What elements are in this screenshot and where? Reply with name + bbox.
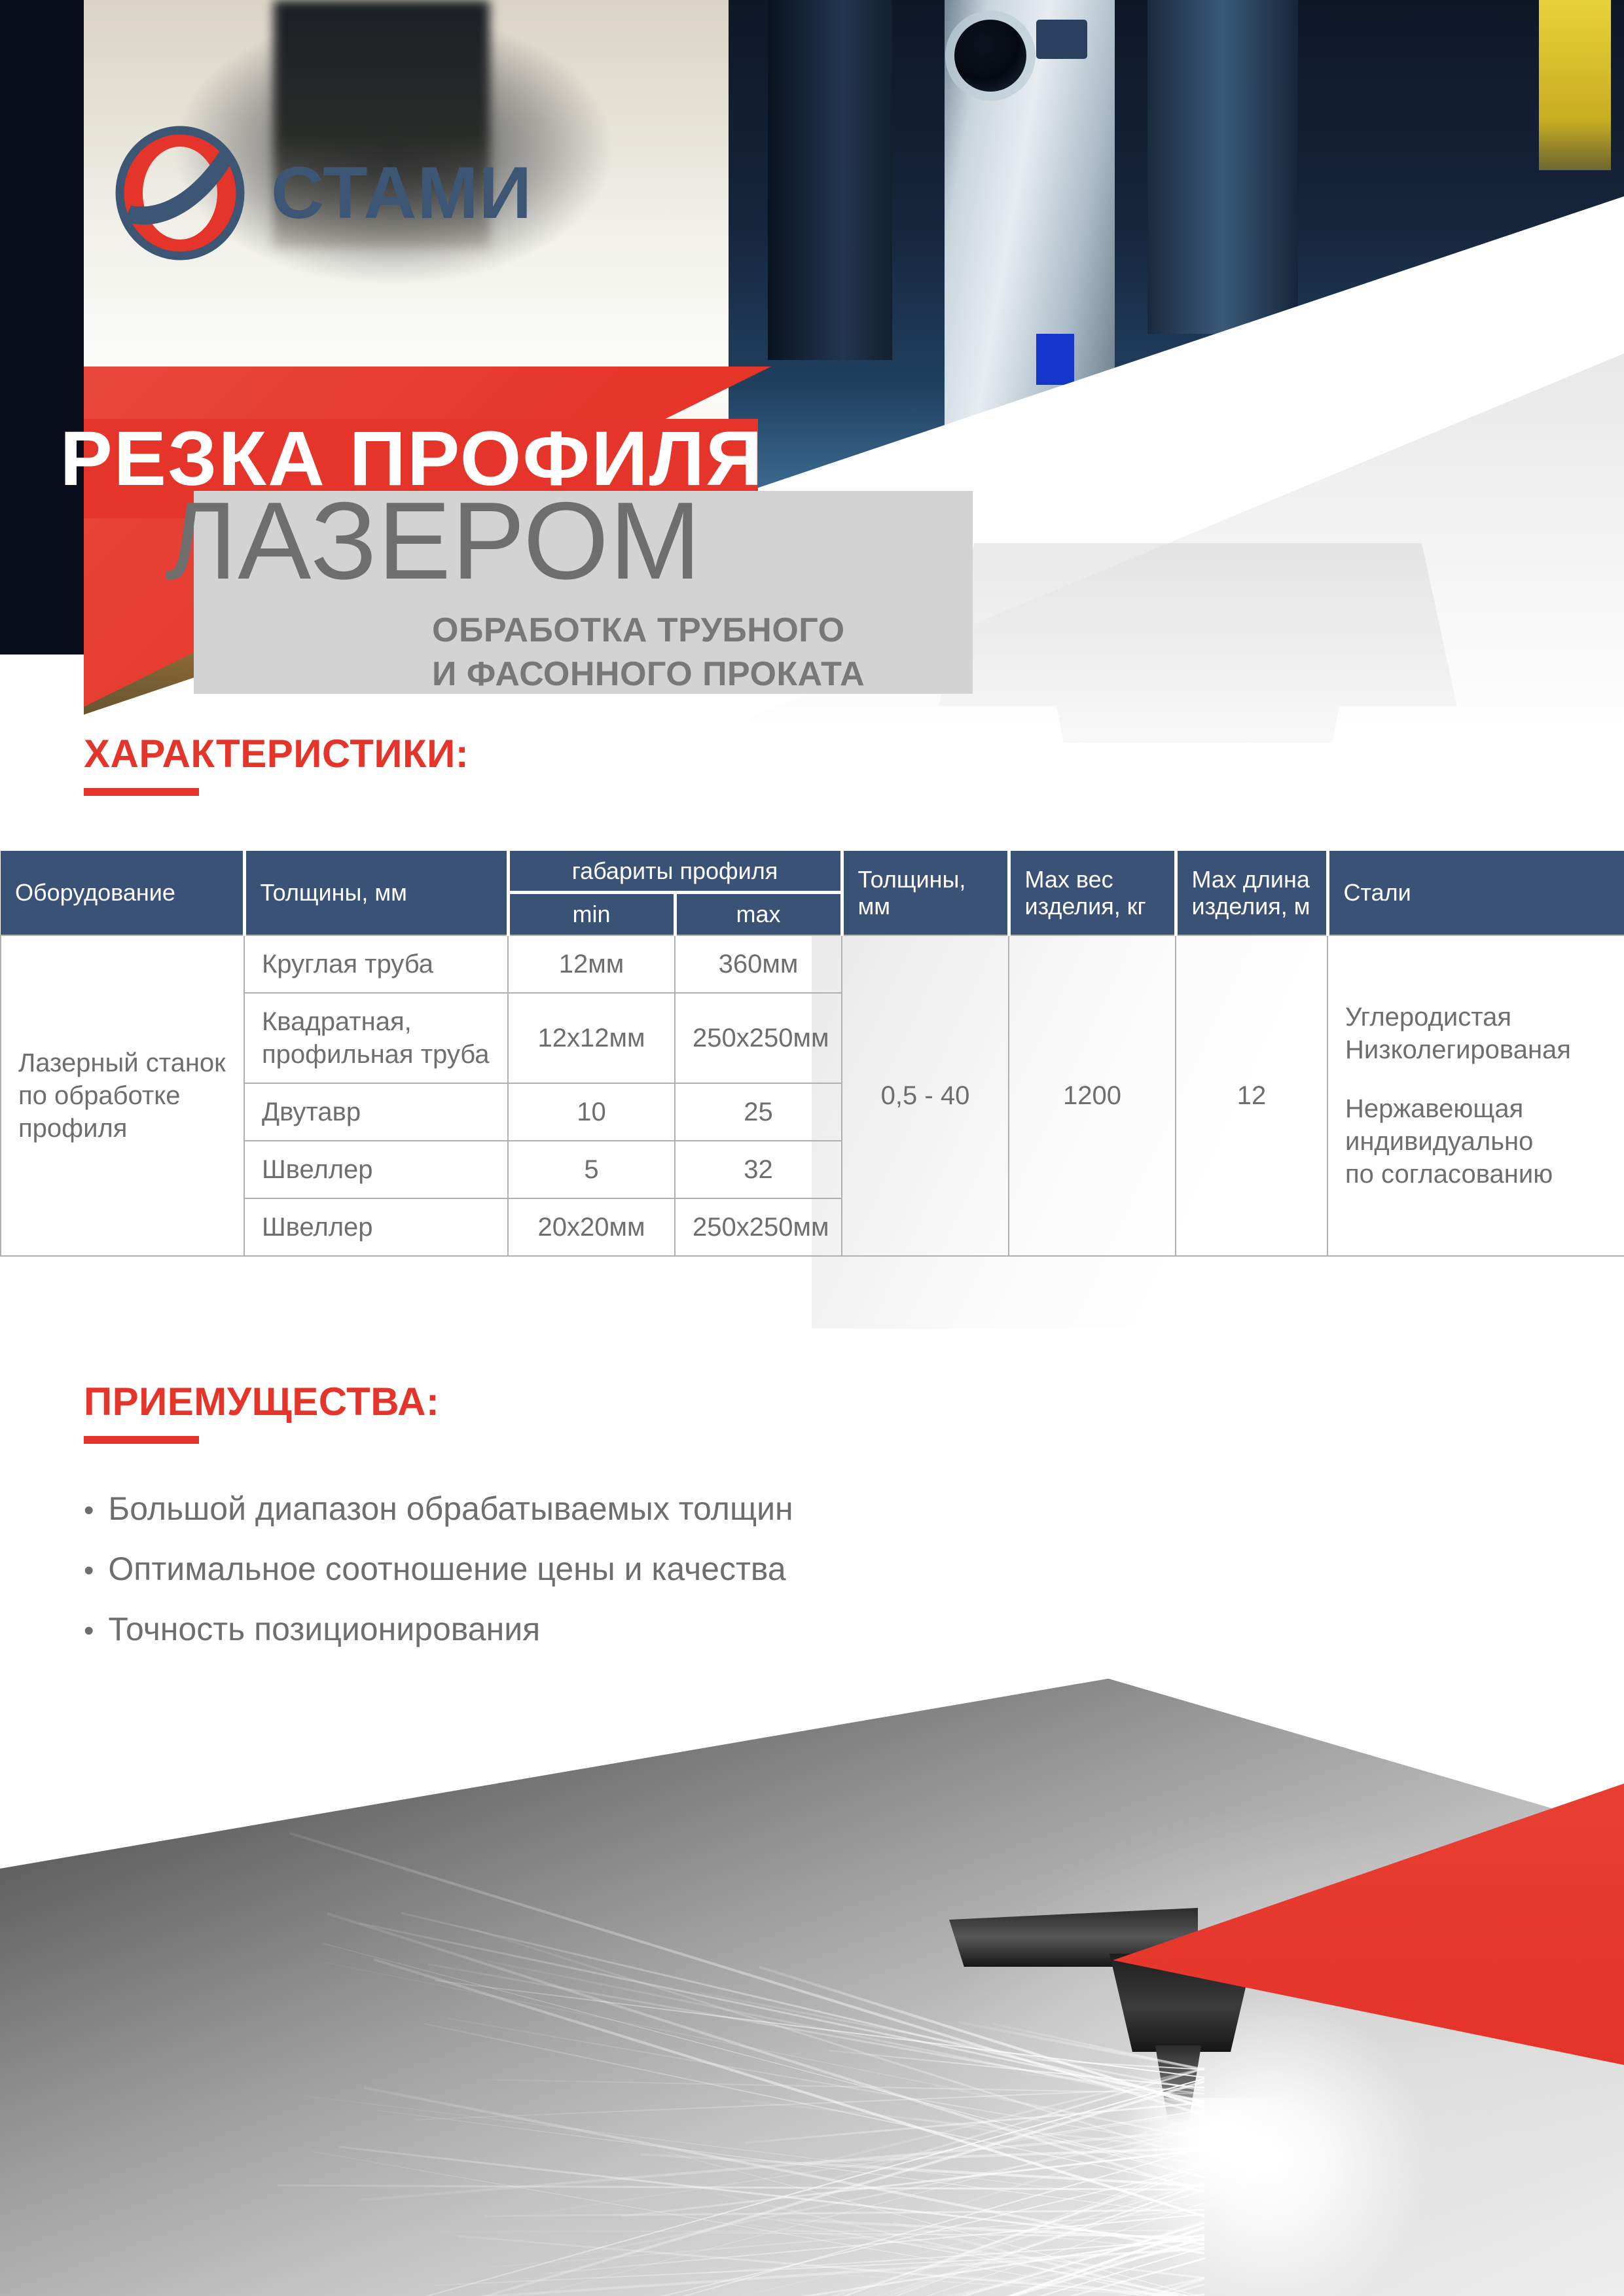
banner-subtitle-line2: И ФАСОННОГО ПРОКАТА xyxy=(432,653,865,696)
advantages-section-header: ПРИЕМУЩЕСТВА: xyxy=(84,1382,439,1444)
th-max: max xyxy=(675,893,842,935)
steels-line-2: Низколегированая xyxy=(1345,1033,1607,1066)
list-item: • Точность позиционирования xyxy=(84,1613,793,1645)
stami-swoosh-logo-icon xyxy=(111,124,249,262)
machine-column-left xyxy=(768,0,892,360)
cell-profile: Швеллер xyxy=(244,1198,508,1256)
banner-subtitle-line1: ОБРАБОТКА ТРУБНОГО xyxy=(432,609,865,653)
cell-min: 12x12мм xyxy=(508,993,675,1083)
steels-line-4: индивидуально xyxy=(1345,1125,1607,1158)
cell-profile: Двутавр xyxy=(244,1083,508,1141)
cell-min: 12мм xyxy=(508,935,675,993)
poster-page: СТАМИ РЕЗКА ПРОФИЛЯ ЛАЗЕРОМ ОБРАБОТКА ТР… xyxy=(0,0,1624,2296)
th-min: min xyxy=(508,893,675,935)
banner-title-line2: ЛАЗЕРОМ xyxy=(165,486,702,596)
steels-gap xyxy=(1345,1066,1607,1092)
cell-profile: Круглая труба xyxy=(244,935,508,993)
th-thickness: Толщины, мм xyxy=(842,851,1009,935)
bullet-icon: • xyxy=(84,1556,94,1585)
cell-max: 25 xyxy=(675,1083,842,1141)
th-max-weight-l1: Мах вес xyxy=(1025,866,1113,893)
cell-profile: Квадратная, профильная труба xyxy=(244,993,508,1083)
cell-max: 360мм xyxy=(675,935,842,993)
list-item-label: Большой диапазон обрабатываемых толщин xyxy=(108,1492,793,1525)
th-max-length: Мах длина изделия, м xyxy=(1176,851,1327,935)
bottom-photo-band xyxy=(0,1672,1624,2296)
characteristics-heading: ХАРАКТЕРИСТИКИ: xyxy=(84,734,469,774)
th-max-weight-l2: изделия, кг xyxy=(1025,893,1146,920)
advantages-heading: ПРИЕМУЩЕСТВА: xyxy=(84,1382,439,1422)
cell-max-weight: 1200 xyxy=(1009,935,1176,1256)
advantages-list: • Большой диапазон обрабатываемых толщин… xyxy=(84,1492,793,1673)
steels-line-1: Углеродистая xyxy=(1345,1001,1607,1033)
spec-table-wrapper: Оборудование Толщины, мм габариты профил… xyxy=(0,851,1624,1257)
cell-min: 20х20мм xyxy=(508,1198,675,1256)
th-profile-dims-group: габариты профиля xyxy=(508,851,842,893)
spec-table: Оборудование Толщины, мм габариты профил… xyxy=(0,851,1624,1257)
machine-yellow-label xyxy=(1539,0,1611,170)
cell-max: 32 xyxy=(675,1141,842,1198)
list-item: • Большой диапазон обрабатываемых толщин xyxy=(84,1492,793,1525)
steels-line-3: Нержавеющая xyxy=(1345,1092,1607,1125)
advantages-rule xyxy=(84,1436,199,1444)
hero-banner: СТАМИ РЕЗКА ПРОФИЛЯ ЛАЗЕРОМ ОБРАБОТКА ТР… xyxy=(0,0,1624,743)
list-item: • Оптимальное соотношение цены и качеств… xyxy=(84,1552,793,1585)
cell-min: 5 xyxy=(508,1141,675,1198)
table-row: Лазерный станок по обработке профиля Кру… xyxy=(1,935,1624,993)
cell-profile: Швеллер xyxy=(244,1141,508,1198)
cutting-head-lens xyxy=(954,20,1026,92)
cell-thickness: 0,5 - 40 xyxy=(842,935,1009,1256)
bottom-sparks xyxy=(0,2065,1244,2296)
brand-name: СТАМИ xyxy=(271,156,532,230)
banner-dark-strip xyxy=(0,0,85,655)
th-max-weight: Мах вес изделия, кг xyxy=(1009,851,1176,935)
th-steels: Стали xyxy=(1327,851,1624,935)
head-marker-plate xyxy=(1036,20,1087,59)
th-profile-thickness: Толщины, мм xyxy=(244,851,508,935)
cell-equipment: Лазерный станок по обработке профиля xyxy=(1,935,244,1256)
cell-max-length: 12 xyxy=(1176,935,1327,1256)
bullet-icon: • xyxy=(84,1496,94,1525)
banner-subtitle: ОБРАБОТКА ТРУБНОГО И ФАСОННОГО ПРОКАТА xyxy=(432,609,865,696)
th-max-length-l1: Мах длина xyxy=(1192,866,1310,893)
cell-steels: Углеродистая Низколегированая Нержавеюща… xyxy=(1327,935,1624,1256)
bullet-icon: • xyxy=(84,1617,94,1645)
list-item-label: Точность позиционирования xyxy=(108,1613,540,1645)
brand-logo: СТАМИ xyxy=(111,124,532,262)
characteristics-section-header: ХАРАКТЕРИСТИКИ: xyxy=(84,734,469,796)
characteristics-rule xyxy=(84,788,199,796)
spec-table-body: Лазерный станок по обработке профиля Кру… xyxy=(1,935,1624,1256)
spec-table-head: Оборудование Толщины, мм габариты профил… xyxy=(1,851,1624,935)
cell-min: 10 xyxy=(508,1083,675,1141)
cell-max: 250x250мм xyxy=(675,993,842,1083)
head-blue-marker xyxy=(1036,334,1074,385)
header-row-1: Оборудование Толщины, мм габариты профил… xyxy=(1,851,1624,893)
steels-line-5: по согласованию xyxy=(1345,1158,1607,1191)
machine-column-right xyxy=(1147,0,1298,334)
th-equipment: Оборудование xyxy=(1,851,244,935)
th-max-length-l2: изделия, м xyxy=(1192,893,1310,920)
list-item-label: Оптимальное соотношение цены и качества xyxy=(108,1552,785,1585)
cell-max: 250х250мм xyxy=(675,1198,842,1256)
